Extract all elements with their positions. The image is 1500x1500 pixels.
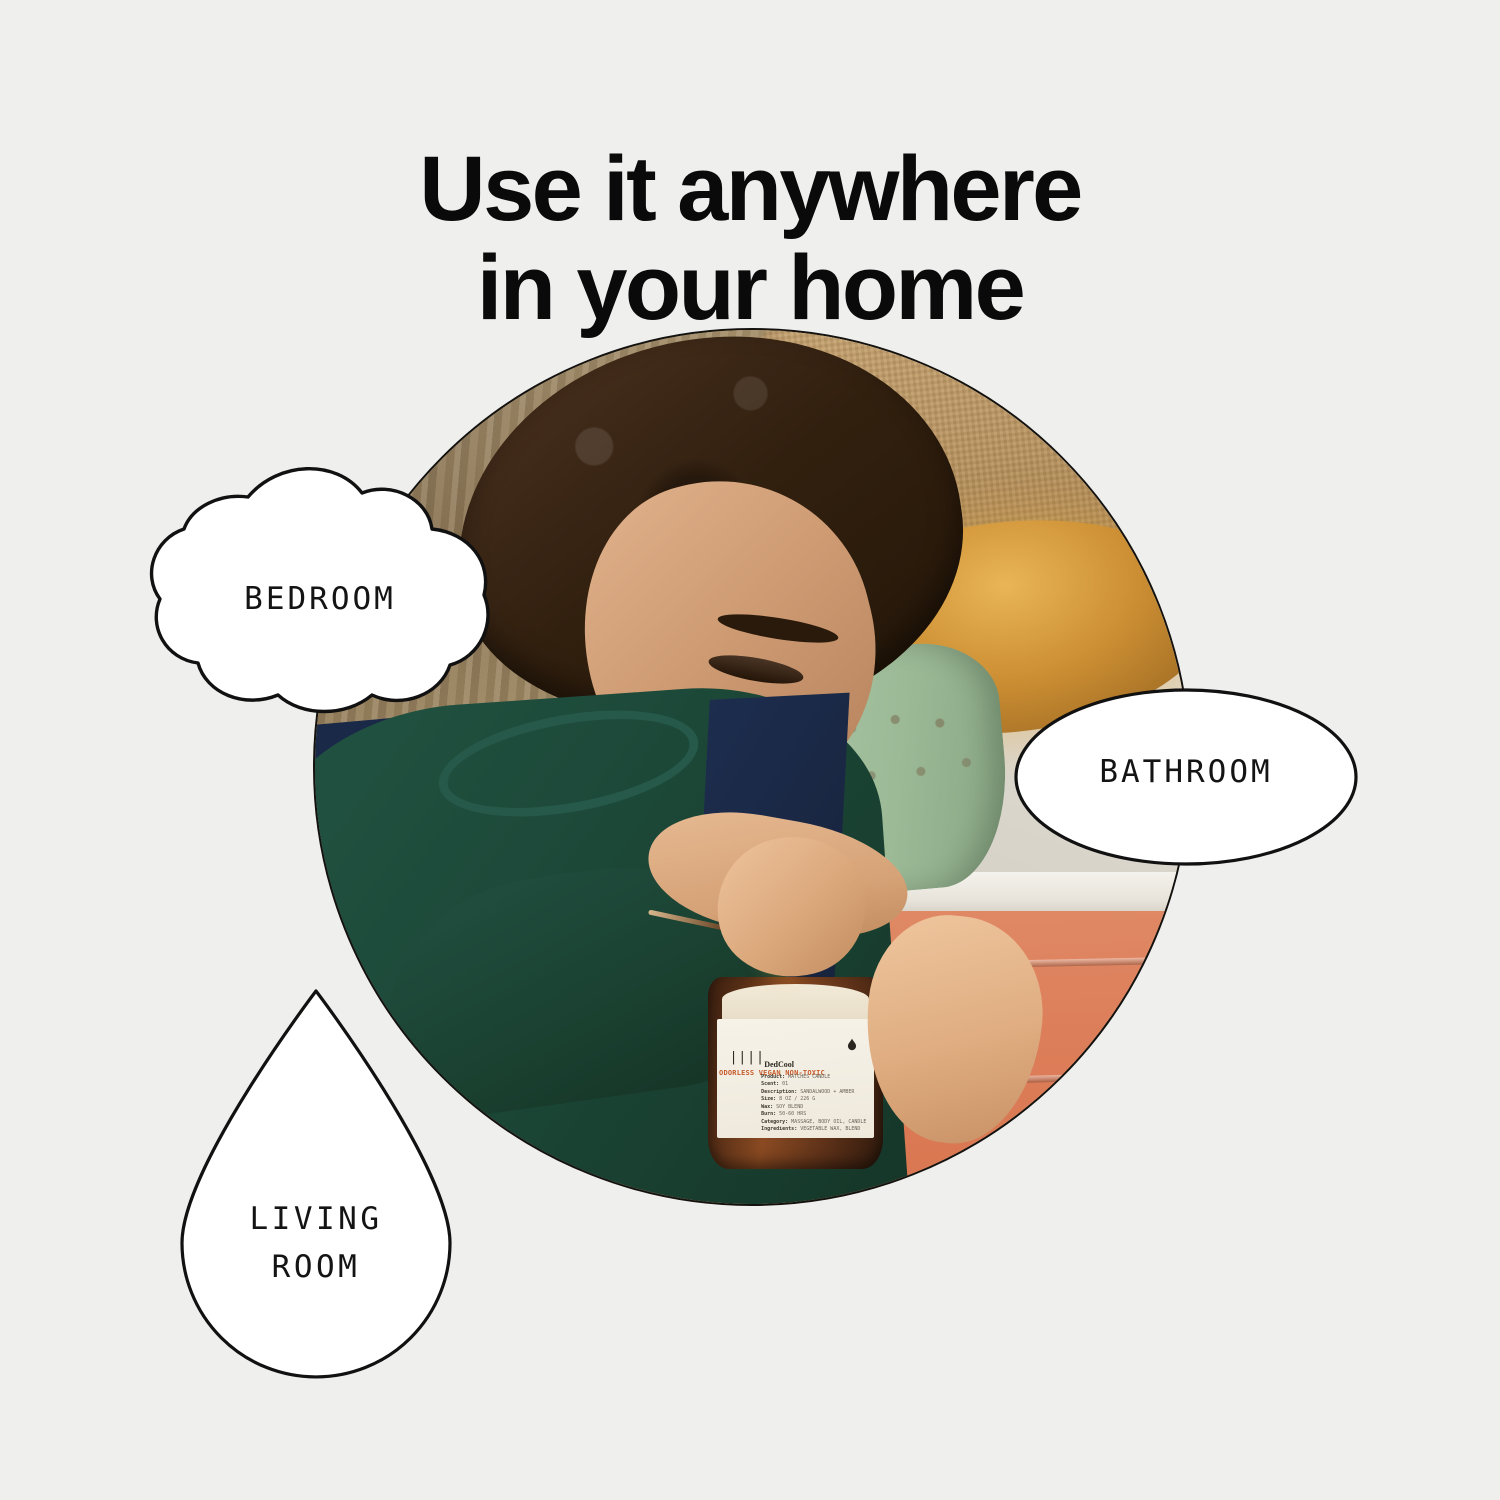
label-spec-row: Category:MASSAGE, BODY OIL, CANDLE: [761, 1119, 868, 1127]
callout-bathroom-label: BATHROOM: [1012, 754, 1360, 790]
label-spec-row: Burn:50-60 HRS: [761, 1111, 868, 1119]
label-spec-row: Ingredients:VEGETABLE WAX, BLEND: [761, 1126, 868, 1134]
label-spec-row: Product:MATCHES CANDLE: [761, 1074, 868, 1082]
label-spec-row: Wax:SOY BLEND: [761, 1104, 868, 1112]
page-title: Use it anywhere in your home: [0, 140, 1500, 339]
headline-line-2: in your home: [0, 239, 1500, 338]
callout-bedroom[interactable]: BEDROOM: [140, 455, 500, 720]
label-hash-mark: ||||: [730, 1050, 765, 1065]
label-spec-rows: Product:MATCHES CANDLEScent:01Descriptio…: [761, 1074, 868, 1134]
label-spec-row: Scent:01: [761, 1081, 868, 1089]
candle-jar: |||| DedCool ODORLESS VEGAN NON-TOXIC Pr…: [708, 977, 883, 1169]
callout-living-room[interactable]: LIVING ROOM: [166, 985, 466, 1385]
marketing-image: Use it anywhere in your home: [0, 0, 1500, 1500]
callout-bathroom[interactable]: BATHROOM: [1012, 686, 1360, 868]
flame-icon: [845, 1038, 859, 1052]
label-spec-row: Size:8 OZ / 226 G: [761, 1096, 868, 1104]
candle-label: |||| DedCool ODORLESS VEGAN NON-TOXIC Pr…: [717, 1019, 874, 1138]
callout-living-room-label: LIVING ROOM: [166, 1195, 466, 1291]
teardrop-shape: [166, 985, 466, 1385]
label-brand: DedCool: [764, 1060, 794, 1069]
label-spec-row: Description:SANDALWOOD + AMBER: [761, 1089, 868, 1097]
callout-bedroom-label: BEDROOM: [140, 581, 500, 617]
headline-line-1: Use it anywhere: [0, 140, 1500, 239]
